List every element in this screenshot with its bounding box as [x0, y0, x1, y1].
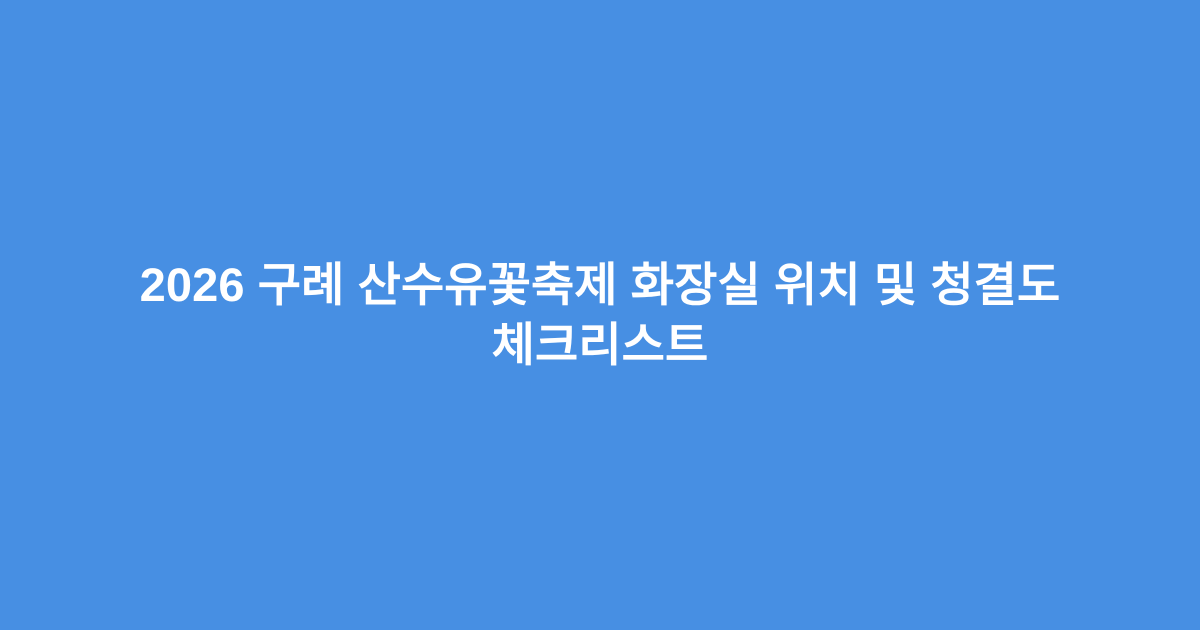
social-card: 2026 구례 산수유꽃축제 화장실 위치 및 청결도 체크리스트	[0, 0, 1200, 630]
page-title: 2026 구례 산수유꽃축제 화장실 위치 및 청결도 체크리스트	[80, 255, 1120, 375]
title-block: 2026 구례 산수유꽃축제 화장실 위치 및 청결도 체크리스트	[70, 255, 1130, 375]
